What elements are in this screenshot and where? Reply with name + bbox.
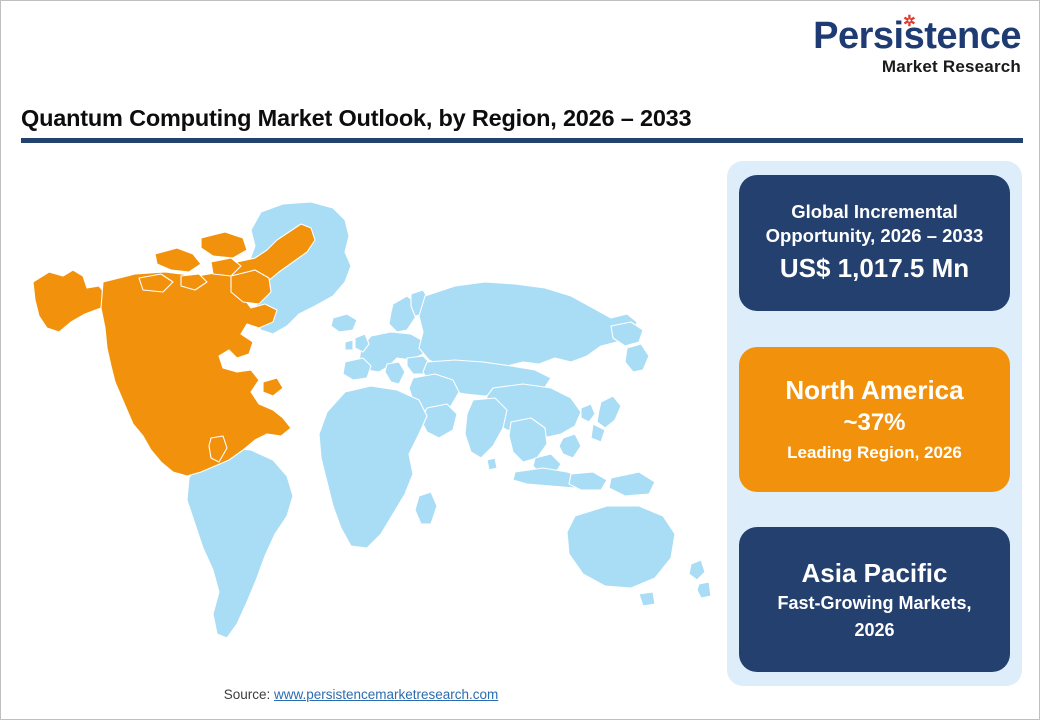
- card2-subtitle: Leading Region, 2026: [787, 442, 962, 464]
- title-block: Quantum Computing Market Outlook, by Reg…: [21, 105, 1021, 143]
- asterisk-icon: ✲: [903, 14, 915, 29]
- world-map: [15, 166, 715, 671]
- source-label: Source:: [224, 687, 274, 702]
- card1-line2: Opportunity, 2026 – 2033: [766, 224, 984, 248]
- logo-tagline: Market Research: [813, 58, 1021, 75]
- title-underline-rule: [21, 138, 1023, 143]
- map-region-north-america-highlight: [33, 224, 315, 476]
- company-logo: ✲ Persistence Market Research: [813, 17, 1021, 75]
- stats-panel: Global Incremental Opportunity, 2026 – 2…: [727, 161, 1022, 686]
- card3-subtitle-line2: 2026: [854, 619, 894, 643]
- card-fast-growing-region: Asia Pacific Fast-Growing Markets, 2026: [739, 527, 1010, 672]
- card2-region-name: North America: [785, 374, 963, 407]
- card1-value: US$ 1,017.5 Mn: [780, 252, 969, 286]
- source-url-link[interactable]: www.persistencemarketresearch.com: [274, 687, 498, 702]
- card-global-incremental-opportunity: Global Incremental Opportunity, 2026 – 2…: [739, 175, 1010, 311]
- card3-subtitle-line1: Fast-Growing Markets,: [777, 592, 971, 616]
- logo-brand-text: ✲ Persistence: [813, 17, 1021, 55]
- source-attribution: Source: www.persistencemarketresearch.co…: [1, 687, 721, 702]
- card3-region-name: Asia Pacific: [802, 557, 948, 590]
- infographic-canvas: ✲ Persistence Market Research Quantum Co…: [0, 0, 1040, 720]
- page-title: Quantum Computing Market Outlook, by Reg…: [21, 105, 1021, 132]
- world-map-svg: [15, 166, 715, 671]
- card-leading-region: North America ~37% Leading Region, 2026: [739, 347, 1010, 492]
- card1-line1: Global Incremental: [791, 200, 958, 224]
- card2-share-percent: ~37%: [843, 407, 905, 438]
- logo-brand-label: Persistence: [813, 15, 1021, 57]
